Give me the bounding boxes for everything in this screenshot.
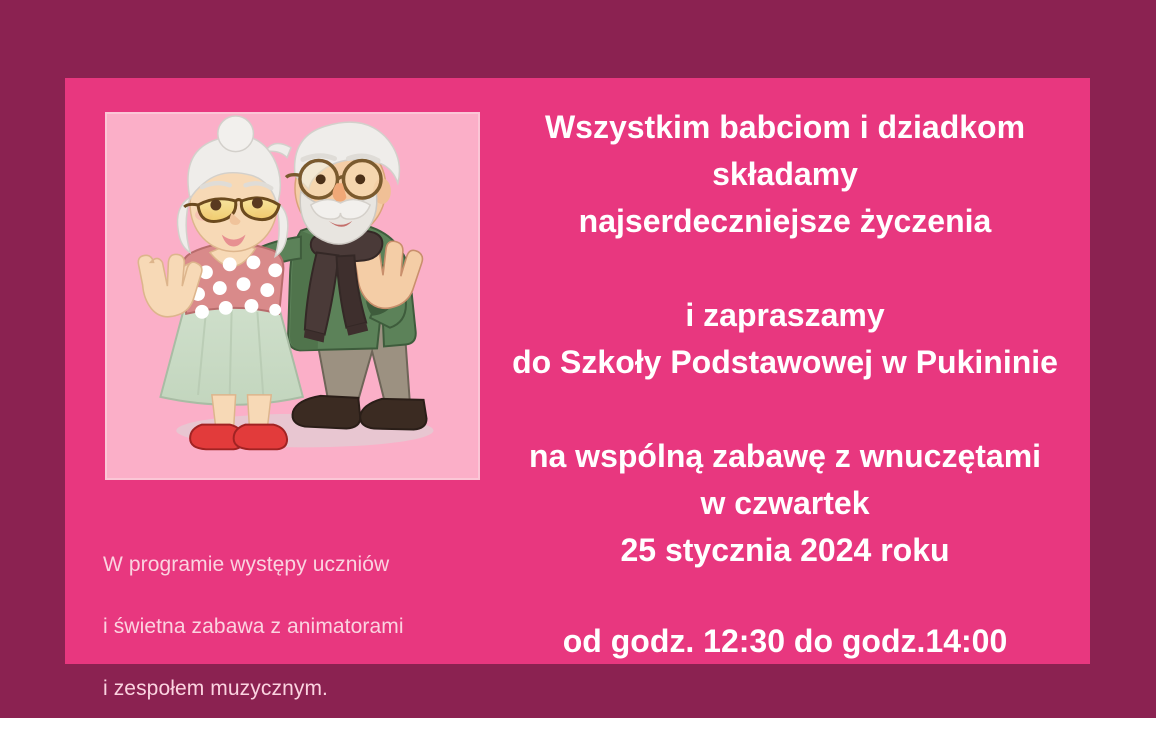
greeting-line-3: najserdeczniejsze życzenia	[485, 198, 1085, 245]
illustration-frame	[105, 112, 480, 480]
poster-root: W programie występy uczniów i świetna za…	[0, 0, 1156, 718]
program-caption: W programie występy uczniów i świetna za…	[103, 518, 523, 735]
event-line-2: w czwartek	[485, 480, 1085, 527]
invitation-line-2: do Szkoły Podstawowej w Pukininie	[485, 339, 1085, 386]
poster-panel: W programie występy uczniów i świetna za…	[65, 78, 1090, 664]
caption-line-2: i świetna zabawa z animatorami	[103, 611, 523, 642]
hours-line-1: od godz. 12:30 do godz.14:00	[485, 618, 1085, 665]
invitation-block: i zapraszamy do Szkoły Podstawowej w Puk…	[485, 292, 1085, 386]
greeting-line-1: Wszystkim babciom i dziadkom	[485, 104, 1085, 151]
caption-line-1: W programie występy uczniów	[103, 549, 523, 580]
message-column: Wszystkim babciom i dziadkom składamy na…	[485, 104, 1085, 665]
spacer-2	[485, 386, 1085, 433]
event-line-1: na wspólną zabawę z wnuczętami	[485, 433, 1085, 480]
event-line-3: 25 stycznia 2024 roku	[485, 527, 1085, 574]
greeting-line-2: składamy	[485, 151, 1085, 198]
elderly-couple-waving-icon	[107, 114, 478, 478]
spacer-1	[485, 245, 1085, 292]
caption-line-3: i zespołem muzycznym.	[103, 673, 523, 704]
invitation-line-1: i zapraszamy	[485, 292, 1085, 339]
hours-block: od godz. 12:30 do godz.14:00	[485, 618, 1085, 665]
event-block: na wspólną zabawę z wnuczętami w czwarte…	[485, 433, 1085, 574]
spacer-3	[485, 574, 1085, 618]
greeting-block: Wszystkim babciom i dziadkom składamy na…	[485, 104, 1085, 245]
